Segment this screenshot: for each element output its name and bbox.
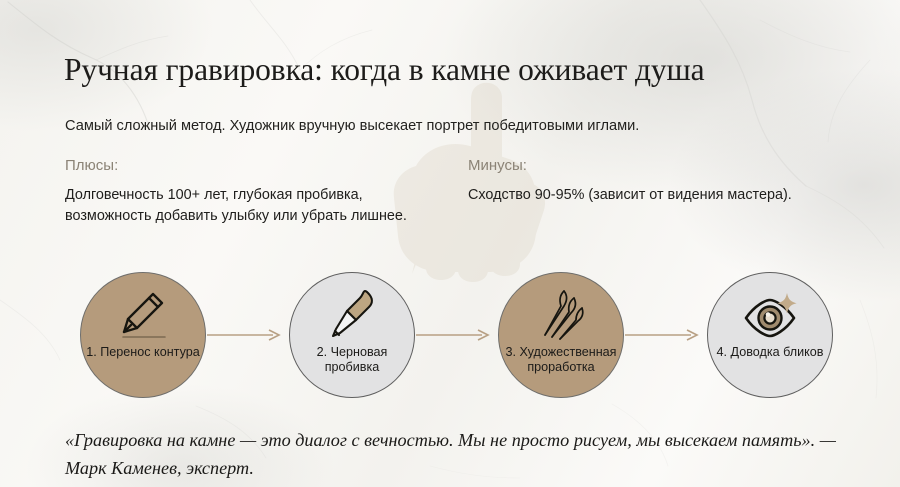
cons-column: Минусы: Сходство 90-95% (зависит от виде… [468,156,858,206]
pros-heading: Плюсы: [65,156,445,176]
step-3-label: 3. Художественная проработка [500,345,622,376]
pros-body: Долговечность 100+ лет, глубокая пробивк… [65,185,445,226]
page-title: Ручная гравировка: когда в камне оживает… [64,52,854,88]
step-4-circle[interactable]: 4. Доводка бликов [707,272,833,398]
needles-icon [533,287,589,341]
step-3-circle[interactable]: 3. Художественная проработка [498,272,624,398]
step-1-label: 1. Перенос контура [82,345,204,360]
chisel-icon [324,287,380,341]
pros-column: Плюсы: Долговечность 100+ лет, глубокая … [65,156,445,226]
step-4-label: 4. Доводка бликов [709,345,831,360]
cons-body: Сходство 90-95% (зависит от видения маст… [468,185,858,206]
eye-sparkle-icon [742,287,798,341]
step-1-circle[interactable]: 1. Перенос контура [80,272,206,398]
expert-quote: «Гравировка на камне — это диалог с вечн… [65,426,855,482]
pencil-icon [115,287,171,341]
infographic-canvas: Ручная гравировка: когда в камне оживает… [0,0,900,487]
page-subtitle: Самый сложный метод. Художник вручную вы… [65,116,865,136]
step-2-circle[interactable]: 2. Черновая пробивка [289,272,415,398]
step-2-label: 2. Черновая пробивка [291,345,413,376]
cons-heading: Минусы: [468,156,858,176]
